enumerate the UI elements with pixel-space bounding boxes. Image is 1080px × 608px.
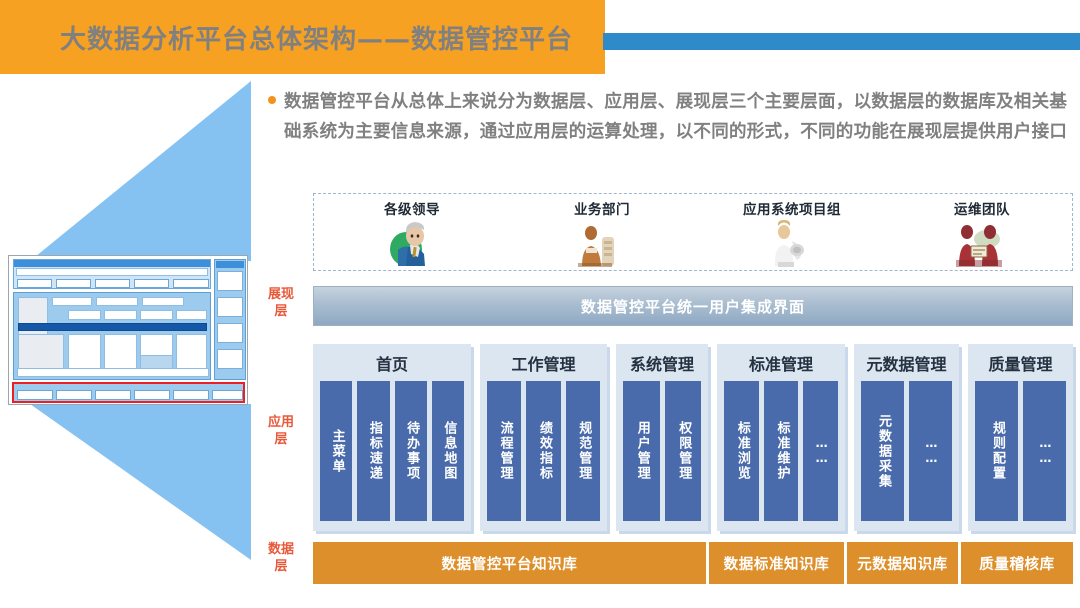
project-team-photo-icon — [764, 219, 820, 267]
app-column-metadata-management[interactable]: 元数据管理 元数据采集 …… — [854, 344, 959, 531]
thumb-header-chip — [134, 279, 169, 288]
thumb-chip — [142, 297, 184, 306]
app-tile[interactable]: 元数据采集 — [861, 381, 904, 521]
thumb-header-subtitle — [16, 268, 208, 276]
architecture-thumbnail[interactable] — [8, 255, 248, 405]
app-tile-group: 流程管理 绩效指标 规范管理 — [487, 381, 600, 521]
app-tile[interactable]: 规范管理 — [566, 381, 600, 521]
thumb-header-chip — [17, 279, 52, 288]
data-block-platform-kb[interactable]: 数据管控平台知识库 — [313, 542, 706, 584]
user-role-label: 运维团队 — [954, 198, 1010, 218]
user-role-business[interactable]: 业务部门 — [512, 198, 692, 268]
app-tile[interactable]: 用户管理 — [623, 381, 660, 521]
business-staff-photo-icon — [574, 219, 630, 267]
layer-label-presentation: 展现层 — [264, 286, 298, 320]
thumb-highlight-row — [18, 323, 207, 331]
header-accent-rule — [603, 33, 1080, 50]
app-tile-more[interactable]: …… — [1023, 381, 1066, 521]
operations-team-photo-icon — [954, 219, 1010, 267]
app-tile-group: 用户管理 权限管理 — [623, 381, 701, 521]
app-tile-more[interactable]: …… — [909, 381, 952, 521]
thumb-platform-chip — [95, 390, 131, 400]
app-tile-group: 主菜单 指标速递 待办事项 信息地图 — [320, 381, 464, 521]
arrow-lower-triangle-icon — [30, 404, 251, 560]
thumb-chip — [176, 310, 207, 320]
user-role-executive[interactable]: 各级领导 — [322, 198, 502, 268]
user-role-label: 应用系统项目组 — [743, 198, 841, 218]
app-tile-more[interactable]: …… — [803, 381, 838, 521]
unified-interface-bar: 数据管控平台统一用户集成界面 — [313, 286, 1073, 326]
app-column-title: 工作管理 — [480, 349, 607, 377]
thumb-chip — [52, 297, 92, 306]
app-tile-group: 元数据采集 …… — [861, 381, 952, 521]
thumb-header-captionbar — [14, 260, 210, 267]
app-tile[interactable]: 标准浏览 — [724, 381, 759, 521]
thumb-header-panel — [13, 259, 211, 289]
app-column-title: 元数据管理 — [854, 349, 959, 377]
user-role-label: 业务部门 — [574, 198, 630, 218]
intro-paragraph: 数据管控平台从总体上来说分为数据层、应用层、展现层三个主要层面，以数据层的数据库… — [284, 87, 1074, 147]
thumb-side-box — [217, 271, 243, 291]
app-tile[interactable]: 待办事项 — [395, 381, 427, 521]
thumb-side-captionbar — [216, 261, 244, 268]
thumb-header-chip — [95, 279, 130, 288]
app-tile-group: 标准浏览 标准维护 …… — [724, 381, 838, 521]
slide-root: 大数据分析平台总体架构——数据管控平台 — [0, 0, 1080, 608]
app-column-title: 标准管理 — [717, 349, 845, 377]
executive-photo-icon — [384, 219, 440, 267]
app-column-quality-management[interactable]: 质量管理 规则配置 …… — [968, 344, 1073, 531]
thumb-platform-chip — [173, 390, 209, 400]
app-column-standard-management[interactable]: 标准管理 标准浏览 标准维护 …… — [717, 344, 845, 531]
thumb-platform-chip — [134, 390, 170, 400]
application-layer: 首页 主菜单 指标速递 待办事项 信息地图 工作管理 流程管理 绩效指标 规范管… — [313, 344, 1073, 531]
app-tile[interactable]: 信息地图 — [432, 381, 464, 521]
thumb-side-panel — [214, 259, 246, 380]
app-column-title: 系统管理 — [616, 349, 708, 377]
thumb-platform-strip — [12, 382, 245, 403]
data-block-metadata-kb[interactable]: 元数据知识库 — [847, 542, 958, 584]
app-column-title: 质量管理 — [968, 349, 1073, 377]
thumb-platform-chip — [56, 390, 92, 400]
thumb-chip — [68, 310, 101, 320]
thumb-platform-chip — [17, 390, 53, 400]
arrow-upper-triangle-icon — [30, 81, 251, 261]
app-tile[interactable]: 规则配置 — [975, 381, 1018, 521]
thumb-platform-chip — [212, 390, 243, 400]
thumb-chip — [96, 297, 138, 306]
app-column-title: 首页 — [313, 349, 471, 377]
app-tile[interactable]: 标准维护 — [764, 381, 799, 521]
thumb-side-box — [217, 323, 243, 343]
thumb-header-chip — [173, 279, 209, 288]
app-column-homepage[interactable]: 首页 主菜单 指标速递 待办事项 信息地图 — [313, 344, 471, 531]
thumb-chip — [104, 310, 137, 320]
app-column-system-management[interactable]: 系统管理 用户管理 权限管理 — [616, 344, 708, 531]
app-column-work-management[interactable]: 工作管理 流程管理 绩效指标 规范管理 — [480, 344, 607, 531]
app-tile-group: 规则配置 …… — [975, 381, 1066, 521]
page-title: 大数据分析平台总体架构——数据管控平台 — [60, 14, 590, 60]
user-role-operations[interactable]: 运维团队 — [892, 198, 1072, 268]
thumb-side-box — [217, 297, 243, 317]
data-layer: 数据管控平台知识库 数据标准知识库 元数据知识库 质量稽核库 — [313, 542, 1073, 584]
layer-label-data: 数据层 — [264, 541, 298, 575]
layer-label-application: 应用层 — [264, 414, 298, 448]
app-tile[interactable]: 流程管理 — [487, 381, 521, 521]
user-role-label: 各级领导 — [384, 198, 440, 218]
thumb-header-chip — [56, 279, 91, 288]
app-tile[interactable]: 权限管理 — [665, 381, 702, 521]
thumb-side-box — [217, 349, 243, 369]
user-role-project-team[interactable]: 应用系统项目组 — [702, 198, 882, 268]
data-block-quality-audit[interactable]: 质量稽核库 — [961, 542, 1073, 584]
app-tile[interactable]: 绩效指标 — [526, 381, 560, 521]
thumb-body-footer — [17, 368, 209, 377]
user-roles-container: 各级领导 业务部门 — [313, 193, 1073, 271]
thumb-chip — [140, 310, 173, 320]
data-block-standard-kb[interactable]: 数据标准知识库 — [709, 542, 844, 584]
app-tile[interactable]: 指标速递 — [357, 381, 389, 521]
app-tile[interactable]: 主菜单 — [320, 381, 352, 521]
bullet-dot-icon — [268, 96, 276, 104]
thumb-body-panel — [13, 292, 211, 380]
